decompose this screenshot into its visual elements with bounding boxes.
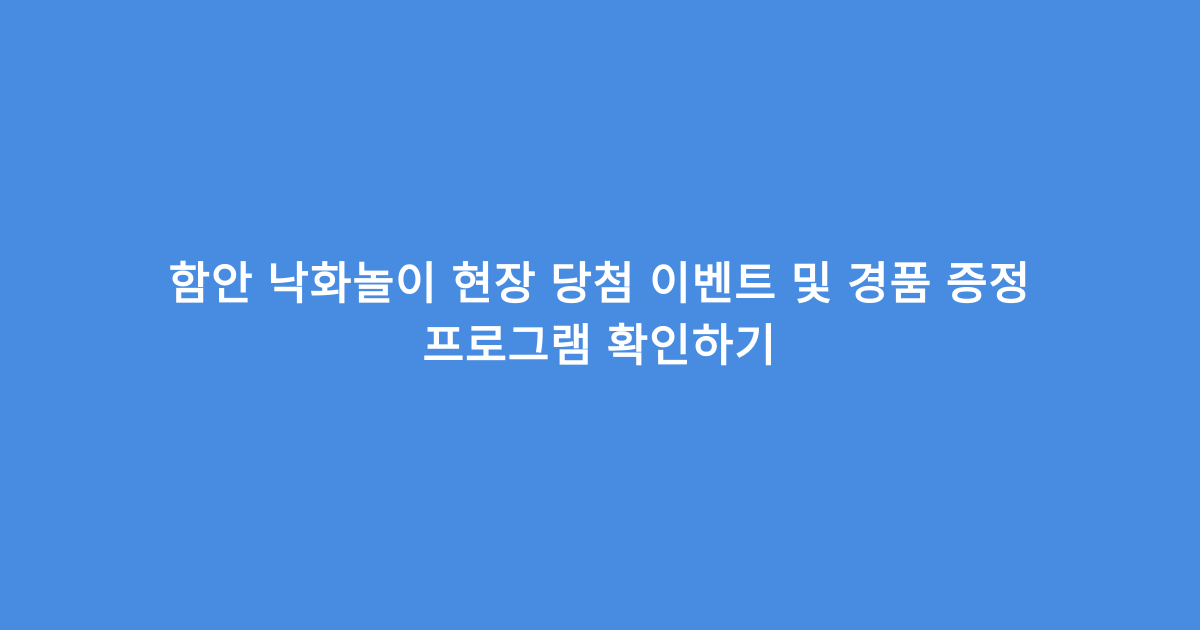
headline-block: 함안 낙화놀이 현장 당첨 이벤트 및 경품 증정 프로그램 확인하기 [100,253,1100,377]
link-preview-card[interactable]: 함안 낙화놀이 현장 당첨 이벤트 및 경품 증정 프로그램 확인하기 [0,0,1200,630]
page-title: 함안 낙화놀이 현장 당첨 이벤트 및 경품 증정 프로그램 확인하기 [120,253,1080,377]
